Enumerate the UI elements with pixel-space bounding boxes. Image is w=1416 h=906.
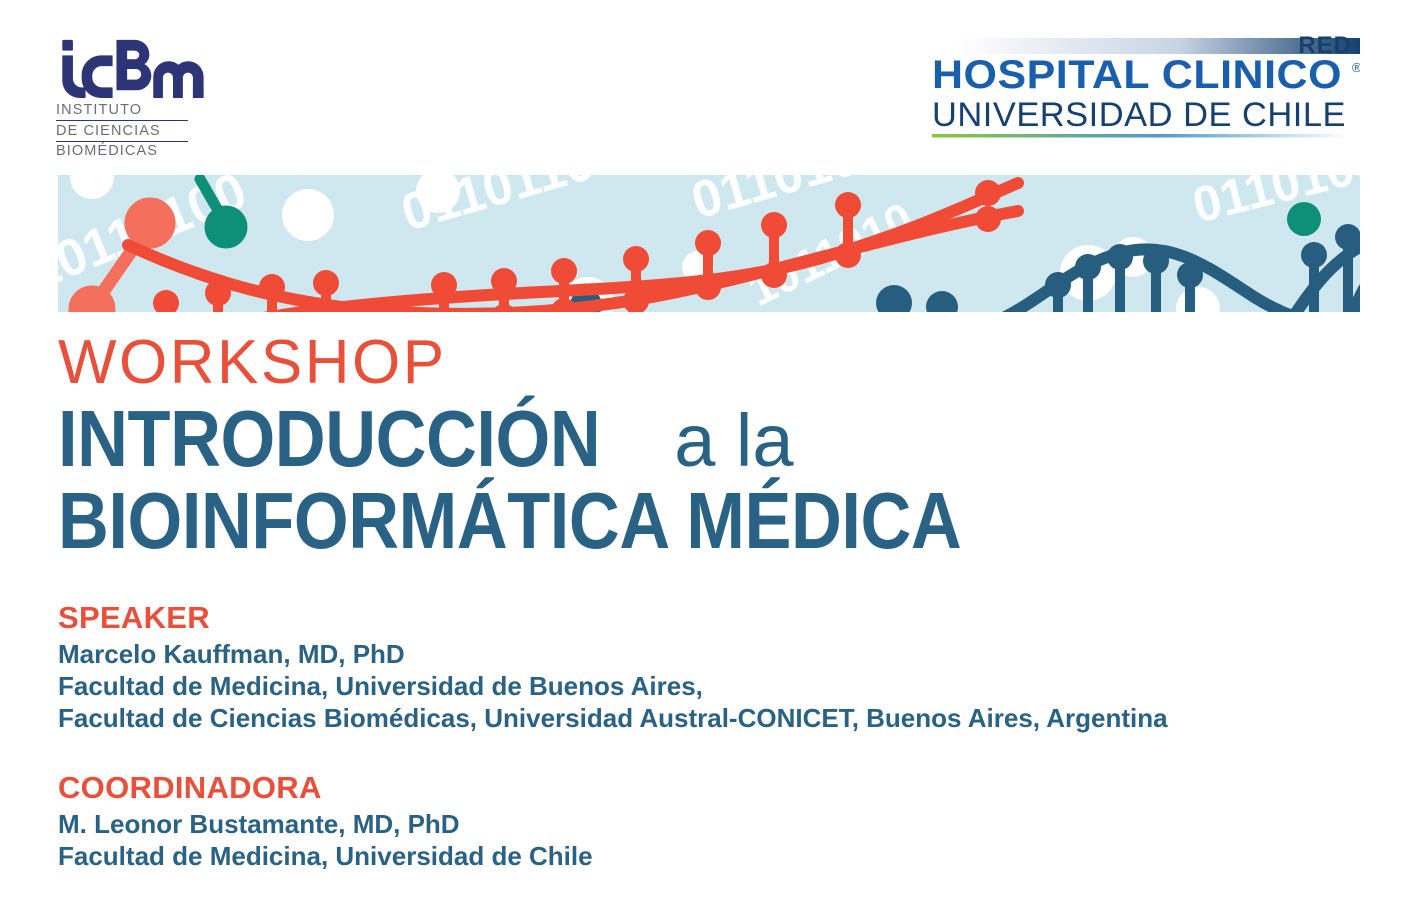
icbm-logo: INSTITUTO DE CIENCIAS BIOMÉDICAS <box>56 38 206 160</box>
icbm-logo-mark <box>56 38 206 98</box>
title-a-la: a la <box>674 402 793 480</box>
icbm-line-2: DE CIENCIAS <box>56 123 188 142</box>
icbm-line-1: INSTITUTO <box>56 102 188 121</box>
title-bioinformatica-medica: BIOINFORMÁTICA MÉDICA <box>58 482 961 560</box>
hospital-registered-icon: ® <box>1352 60 1360 75</box>
hospital-line-2: UNIVERSIDAD DE CHILE <box>932 96 1346 134</box>
page-title-line-2: BIOINFORMÁTICA MÉDICA <box>58 482 1084 583</box>
speaker-block: SPEAKER Marcelo Kauffman, MD, PhD Facult… <box>58 600 1168 734</box>
hospital-line-1: HOSPITAL CLINICO <box>932 53 1342 97</box>
icbm-line-3: BIOMÉDICAS <box>56 143 188 160</box>
speaker-affiliation-2: Facultad de Ciencias Biomédicas, Univers… <box>58 702 1168 734</box>
coordinator-name: M. Leonor Bustamante, MD, PhD <box>58 808 593 840</box>
speaker-affiliation-1: Facultad de Medicina, Universidad de Bue… <box>58 670 1168 702</box>
hospital-gradient-rule <box>932 134 1348 138</box>
decorative-banner: 10110100 01101100 0110100110 1011010 011… <box>58 175 1360 312</box>
banner-graphics: 10110100 01101100 0110100110 1011010 011… <box>58 175 1360 312</box>
hospital-clinico-logo: RED HOSPITAL CLINICO ® UNIVERSIDAD DE CH… <box>928 34 1360 154</box>
teal-dot <box>1287 202 1321 236</box>
icbm-logo-text: INSTITUTO DE CIENCIAS BIOMÉDICAS <box>56 102 188 160</box>
coordinator-affiliation-1: Facultad de Medicina, Universidad de Chi… <box>58 840 593 872</box>
eyebrow-workshop: WORKSHOP <box>58 332 447 394</box>
coordinator-role-label: COORDINADORA <box>58 770 593 806</box>
hospital-clinico-logo-art: RED HOSPITAL CLINICO ® UNIVERSIDAD DE CH… <box>928 34 1360 154</box>
poster-root: INSTITUTO DE CIENCIAS BIOMÉDICAS <box>0 0 1416 906</box>
speaker-name: Marcelo Kauffman, MD, PhD <box>58 638 1168 670</box>
coordinator-block: COORDINADORA M. Leonor Bustamante, MD, P… <box>58 770 593 872</box>
speaker-role-label: SPEAKER <box>58 600 1168 636</box>
title-introduccion: INTRODUCCIÓN <box>58 400 600 478</box>
